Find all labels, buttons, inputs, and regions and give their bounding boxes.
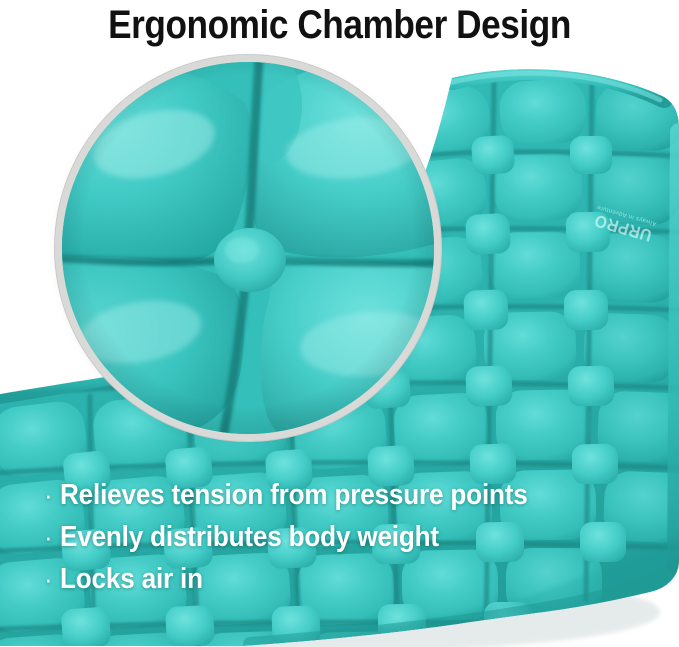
feature-label: Locks air in (60, 562, 203, 596)
bullet-marker-icon: · (44, 480, 60, 510)
closeup-vignette (62, 62, 434, 434)
bullet-marker-icon: · (44, 564, 60, 594)
product-feature-image: URPRO Always in Adventure Ergonomic Cham… (0, 0, 679, 647)
list-item: · Relieves tension from pressure points (44, 478, 644, 520)
list-item: · Evenly distributes body weight (44, 520, 644, 562)
list-item: · Locks air in (44, 562, 644, 604)
magnifier-closeup-circle (62, 62, 434, 434)
feature-label: Evenly distributes body weight (60, 520, 439, 554)
page-title: Ergonomic Chamber Design (41, 2, 639, 48)
bullet-marker-icon: · (44, 522, 60, 552)
feature-list: · Relieves tension from pressure points … (44, 478, 644, 604)
feature-label: Relieves tension from pressure points (60, 478, 528, 512)
closeup-svg (62, 62, 434, 434)
